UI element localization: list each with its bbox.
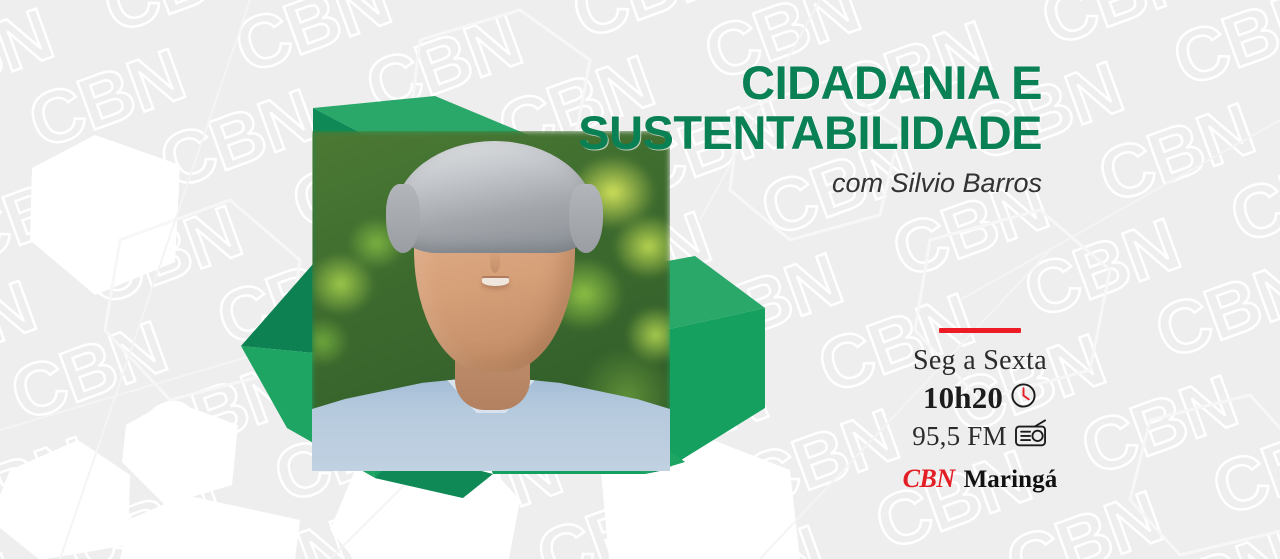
program-title-line-2: SUSTENTABILIDADE — [578, 108, 1042, 158]
red-divider-rule — [939, 328, 1021, 333]
station-logo: CBN Maringá — [880, 464, 1080, 494]
schedule-days: Seg a Sexta — [880, 345, 1080, 377]
radio-icon — [1014, 419, 1048, 454]
portrait-nose — [490, 250, 500, 273]
schedule-time: 10h20 — [923, 380, 1003, 416]
program-title-block: CIDADANIA E SUSTENTABILIDADE com Silvio … — [578, 58, 1042, 199]
station-city-label: Maringá — [964, 466, 1058, 494]
program-title-line-1: CIDADANIA E — [578, 58, 1042, 108]
schedule-block: Seg a Sexta 10h20 95,5 FM — [880, 328, 1080, 494]
radio-program-banner: CBNCBNCBNCBNCBNCBNCBNCBN CBNCBNCBNCBNCBN… — [0, 0, 1280, 559]
schedule-time-row: 10h20 — [880, 380, 1080, 416]
cbn-logo-text: CBN — [903, 464, 955, 494]
schedule-frequency: 95,5 FM — [912, 421, 1006, 452]
program-host-subtitle: com Silvio Barros — [578, 168, 1042, 199]
clock-icon — [1010, 382, 1037, 414]
schedule-frequency-row: 95,5 FM — [880, 419, 1080, 454]
portrait-mouth — [482, 278, 509, 287]
